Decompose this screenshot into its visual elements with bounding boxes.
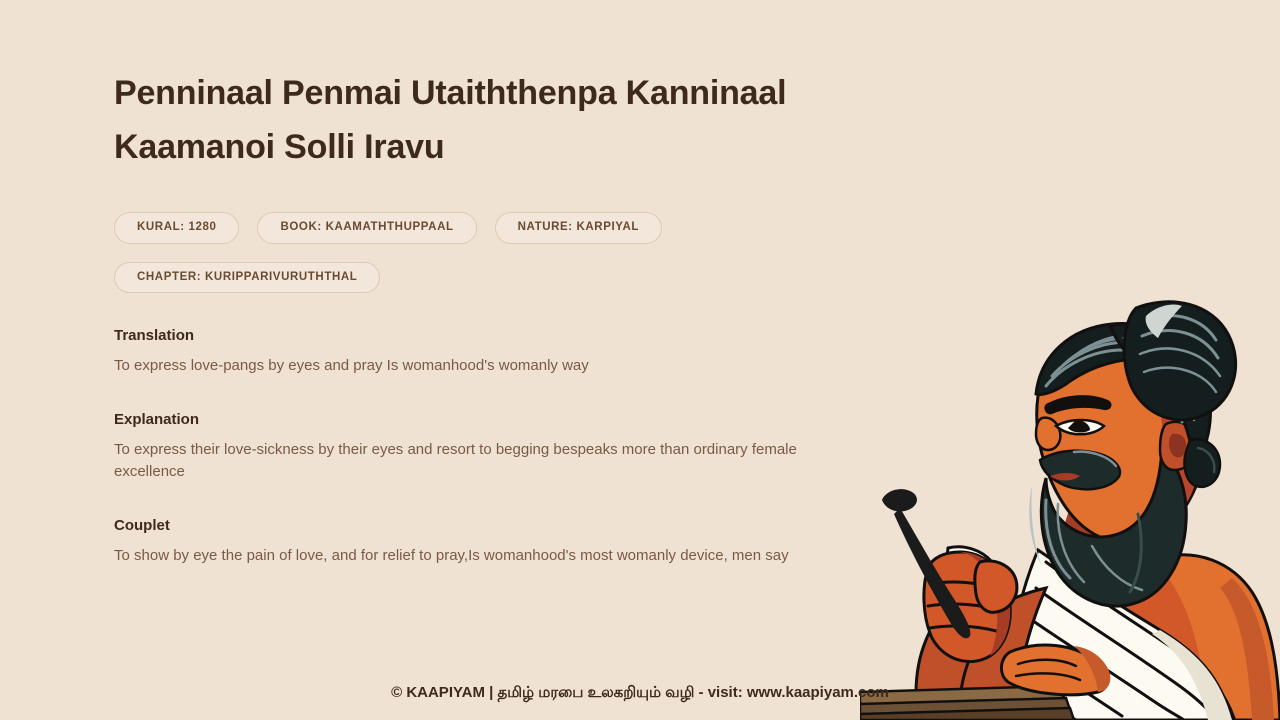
- section-couplet: Couplet To show by eye the pain of love,…: [114, 517, 914, 567]
- badge-chapter[interactable]: CHAPTER: KURIPPARIVURUTHTHAL: [114, 262, 380, 294]
- badge-book[interactable]: BOOK: KAAMATHTHUPPAAL: [257, 212, 476, 244]
- kural-meta-badges: KURAL: 1280 BOOK: KAAMATHTHUPPAAL NATURE…: [114, 212, 914, 293]
- section-translation: Translation To express love-pangs by eye…: [114, 327, 914, 377]
- page-title: Penninaal Penmai Utaiththenpa Kanninaal …: [114, 66, 854, 174]
- section-explanation: Explanation To express their love-sickne…: [114, 411, 914, 483]
- thiruvalluvar-writing-illustration: [860, 300, 1280, 720]
- kural-content: Penninaal Penmai Utaiththenpa Kanninaal …: [114, 66, 914, 567]
- badge-nature[interactable]: NATURE: KARPIYAL: [495, 212, 662, 244]
- section-heading-explanation: Explanation: [114, 411, 914, 429]
- badge-kural-number[interactable]: KURAL: 1280: [114, 212, 239, 244]
- section-heading-couplet: Couplet: [114, 517, 914, 535]
- section-heading-translation: Translation: [114, 327, 914, 345]
- kural-card-page: Penninaal Penmai Utaiththenpa Kanninaal …: [0, 0, 1280, 720]
- section-body-couplet: To show by eye the pain of love, and for…: [114, 545, 854, 567]
- section-body-explanation: To express their love-sickness by their …: [114, 439, 844, 483]
- footer-credit: © KAAPIYAM | தமிழ் மரபை உலகறியும் வழி - …: [0, 683, 1280, 703]
- section-body-translation: To express love-pangs by eyes and pray I…: [114, 355, 854, 377]
